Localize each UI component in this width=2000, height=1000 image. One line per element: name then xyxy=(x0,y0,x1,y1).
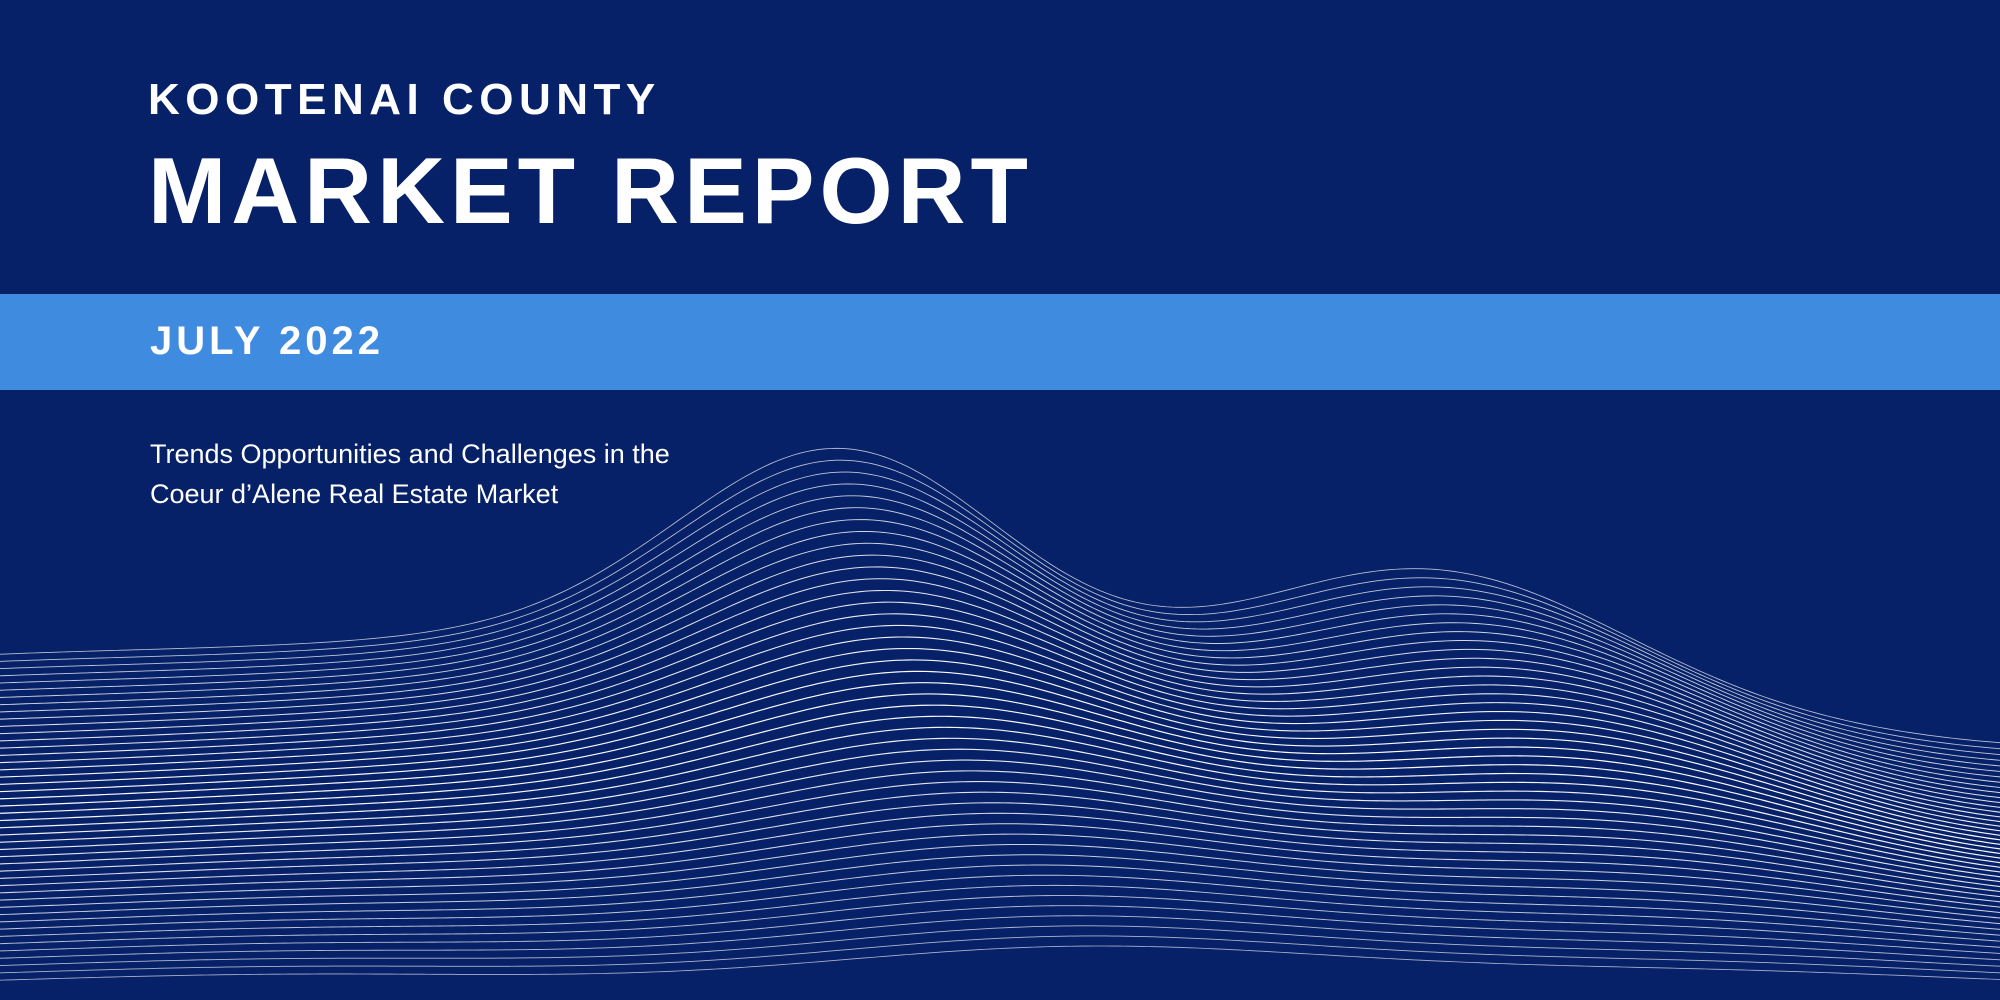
wave-line xyxy=(0,614,2000,818)
wave-line xyxy=(0,472,2000,755)
wave-line xyxy=(0,637,2000,827)
wave-line xyxy=(0,671,2000,840)
wave-line xyxy=(0,813,2000,902)
wave-line xyxy=(0,625,2000,822)
wave-line xyxy=(0,590,2000,808)
wave-line xyxy=(0,649,2000,832)
report-cover-page: KOOTENAI COUNTY MARKET REPORT JULY 2022 … xyxy=(0,0,2000,1000)
wave-line xyxy=(0,855,2000,924)
subtitle: Trends Opportunities and Challenges in t… xyxy=(150,434,670,514)
wave-line xyxy=(0,834,2000,913)
wave-line xyxy=(0,520,2000,778)
hero-top-block: KOOTENAI COUNTY MARKET REPORT xyxy=(0,0,2000,294)
wave-line xyxy=(0,771,2000,882)
wave-line xyxy=(0,936,2000,973)
wave-line xyxy=(0,875,2000,935)
wave-lines-group xyxy=(0,448,2000,980)
wave-line xyxy=(0,803,2000,898)
wave-line xyxy=(0,705,2000,854)
eyebrow-heading: KOOTENAI COUNTY xyxy=(148,78,1033,122)
title-group: KOOTENAI COUNTY MARKET REPORT xyxy=(148,78,1033,238)
wave-line xyxy=(0,738,2000,868)
wave-line xyxy=(0,660,2000,836)
wave-line xyxy=(0,716,2000,859)
wave-line xyxy=(0,749,2000,873)
wave-line xyxy=(0,694,2000,850)
wave-line xyxy=(0,824,2000,908)
wave-line xyxy=(0,946,2000,980)
wave-line xyxy=(0,727,2000,863)
wave-line xyxy=(0,865,2000,930)
wave-line xyxy=(0,885,2000,941)
wave-line xyxy=(0,508,2000,772)
wave-line xyxy=(0,792,2000,892)
wave-line xyxy=(0,916,2000,960)
wave-line xyxy=(0,844,2000,918)
wave-line xyxy=(0,683,2000,845)
subtitle-line-2: Coeur d’Alene Real Estate Market xyxy=(150,474,670,514)
wave-line xyxy=(0,782,2000,888)
date-band-label: JULY 2022 xyxy=(150,321,384,361)
wave-line xyxy=(0,531,2000,782)
wave-line xyxy=(0,896,2000,948)
page-title: MARKET REPORT xyxy=(148,144,1033,238)
wave-line xyxy=(0,555,2000,793)
wave-line xyxy=(0,602,2000,813)
wave-line xyxy=(0,484,2000,761)
wave-line xyxy=(0,567,2000,798)
wave-line xyxy=(0,496,2000,767)
wave-line xyxy=(0,906,2000,954)
date-band: JULY 2022 xyxy=(0,294,2000,390)
wave-line xyxy=(0,760,2000,877)
wave-line xyxy=(0,543,2000,788)
subtitle-line-1: Trends Opportunities and Challenges in t… xyxy=(150,434,670,474)
wave-line xyxy=(0,579,2000,803)
wave-line xyxy=(0,926,2000,967)
